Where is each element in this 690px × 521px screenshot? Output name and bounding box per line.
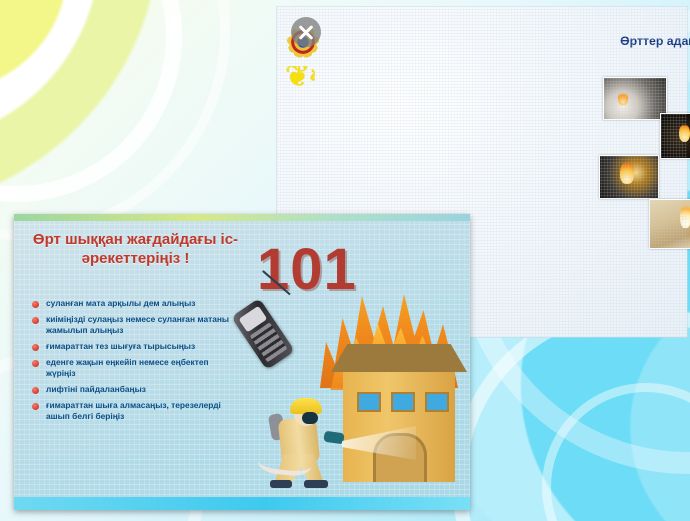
list-item: еденге жақын еңкейіп немесе еңбектеп жүр… bbox=[32, 357, 240, 379]
poster-bottom-stripe bbox=[14, 497, 470, 510]
poster-top-stripe bbox=[14, 214, 470, 221]
burning-matchbox-photo bbox=[649, 199, 690, 249]
gas-stove-flame-photo bbox=[603, 77, 667, 120]
background-swirl bbox=[0, 0, 182, 202]
list-item: лифтіні пайдаланбаңыз bbox=[32, 384, 240, 395]
firefighter-mask bbox=[302, 412, 318, 424]
house-window bbox=[425, 392, 449, 412]
poster-title: Өрт шыққан жағдайдағы іс-әрекеттеріңіз ! bbox=[28, 230, 243, 268]
list-item: ғимараттан шыға алмасаңыз, терезелерді а… bbox=[32, 400, 240, 422]
phone-antenna-icon bbox=[263, 270, 295, 302]
firefighter-boot bbox=[270, 480, 292, 488]
house-window bbox=[357, 392, 381, 412]
house-roof bbox=[331, 344, 467, 372]
page-title: Өрттер адам өміріне қатер төндіріп,үлкен… bbox=[607, 34, 690, 62]
background-swirl bbox=[542, 383, 690, 521]
list-item: суланған мата арқылы дем алыңыз bbox=[32, 298, 240, 309]
lit-match-photo bbox=[660, 113, 690, 159]
firefighter-boot bbox=[304, 480, 328, 488]
list-item: киіміңізді сулаңыз немесе суланған матан… bbox=[32, 314, 240, 336]
burning-house-icon bbox=[343, 370, 455, 482]
burning-electrical-socket-photo bbox=[599, 155, 659, 199]
list-item: ғимараттан тез шығуға тырысыңыз bbox=[32, 341, 240, 352]
house-window bbox=[391, 392, 415, 412]
background-swirl bbox=[0, 0, 230, 240]
poster-action-list: суланған мата арқылы дем алыңыз киіміңіз… bbox=[32, 298, 240, 427]
hose-nozzle-icon bbox=[323, 431, 344, 445]
presentation-slide: Өрттер адам өміріне қатер төндіріп,үлкен… bbox=[0, 0, 690, 521]
fire-action-poster[interactable]: Өрт шыққан жағдайдағы іс-әрекеттеріңіз !… bbox=[14, 214, 470, 510]
kazakhstan-emblem-icon bbox=[283, 16, 327, 62]
close-icon[interactable] bbox=[291, 17, 321, 47]
